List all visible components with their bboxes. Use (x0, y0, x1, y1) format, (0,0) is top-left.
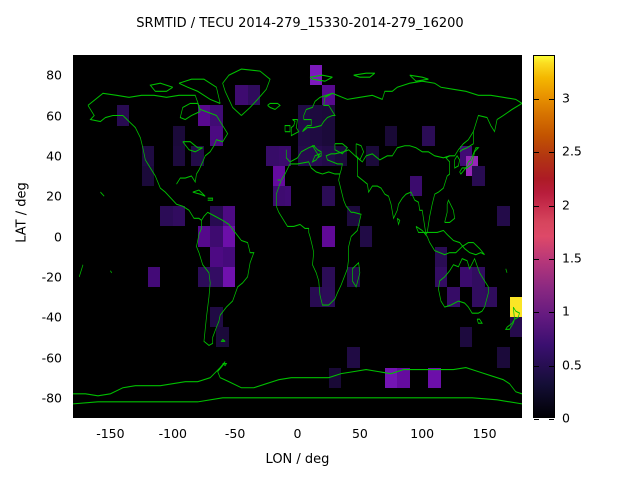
x-tick-label: -100 (159, 426, 187, 441)
x-tick-label: -50 (225, 426, 245, 441)
y-tick-mark (73, 358, 78, 359)
x-tick-label: 150 (473, 426, 497, 441)
coastline-path (221, 339, 225, 341)
colorbar-tick-mark (549, 259, 554, 260)
x-tick-label: 50 (352, 426, 368, 441)
coastline-path (506, 269, 507, 273)
coastline-path (100, 192, 104, 196)
colorbar-tick-label: 0 (562, 411, 570, 426)
coastline-path (506, 307, 520, 329)
y-tick-label: -60 (0, 350, 62, 365)
y-tick-mark (73, 237, 78, 238)
coastline-path (354, 73, 375, 77)
x-tick-mark (485, 413, 486, 418)
colorbar-tick-label: 2 (562, 197, 570, 212)
colorbar-tick-mark (549, 206, 554, 207)
chart-title: SRMTID / TECU 2014-279_15330-2014-279_16… (0, 16, 600, 31)
y-tick-label: -40 (0, 310, 62, 325)
coastline-path (276, 164, 290, 206)
x-tick-mark (235, 413, 236, 418)
coastline-path (88, 105, 201, 220)
coastline-path (356, 144, 363, 160)
colorbar-tick-mark (534, 99, 539, 100)
colorbar[interactable] (533, 55, 555, 418)
y-tick-mark (73, 317, 78, 318)
coastline-path (352, 263, 359, 287)
coastline-path (196, 212, 253, 345)
coastline-path (438, 259, 488, 313)
y-tick-label: 40 (0, 148, 62, 163)
coastline-path (397, 218, 399, 224)
coastline-path (445, 200, 455, 222)
coastline-path (223, 69, 270, 115)
coastline-path (276, 174, 361, 305)
coastline-path (410, 75, 429, 81)
x-tick-label: 100 (410, 426, 434, 441)
x-tick-label: -150 (96, 426, 124, 441)
chart-figure: SRMTID / TECU 2014-279_15330-2014-279_16… (0, 0, 640, 480)
y-tick-label: -20 (0, 269, 62, 284)
coastline-path (473, 103, 522, 131)
y-tick-mark (73, 116, 78, 117)
colorbar-tick-label: 2.5 (562, 144, 582, 159)
y-axis-label: LAT / deg (15, 158, 30, 268)
coastline-layer (73, 55, 522, 418)
coastline-path (88, 93, 228, 184)
coastline-path (79, 265, 83, 277)
coastline-path (285, 126, 290, 132)
colorbar-tick-mark (549, 99, 554, 100)
y-tick-mark (73, 398, 78, 399)
x-tick-label: 0 (294, 426, 302, 441)
colorbar-tick-mark (534, 259, 539, 260)
y-tick-mark (73, 156, 78, 157)
coastline-path (183, 142, 203, 152)
coastline-path (291, 120, 298, 136)
coastline-path (302, 93, 334, 131)
coastline-path (416, 226, 485, 254)
coastline-path (73, 362, 522, 396)
coastline-path (268, 103, 280, 109)
coastline-path (357, 156, 449, 235)
colorbar-tick-label: 1 (562, 304, 570, 319)
colorbar-tick-mark (534, 152, 539, 153)
colorbar-tick-mark (534, 419, 539, 420)
colorbar-tick-mark (549, 152, 554, 153)
coastline-path (310, 75, 332, 81)
colorbar-tick-label: 0.5 (562, 357, 582, 372)
colorbar-tick-mark (549, 312, 554, 313)
coastline-path (180, 103, 200, 119)
colorbar-tick-mark (549, 366, 554, 367)
y-tick-mark (73, 196, 78, 197)
coastline-path (110, 271, 111, 273)
y-tick-label: 20 (0, 189, 62, 204)
y-tick-label: 80 (0, 68, 62, 83)
y-tick-mark (73, 277, 78, 278)
x-tick-mark (173, 413, 174, 418)
colorbar-tick-mark (534, 206, 539, 207)
y-tick-label: 0 (0, 229, 62, 244)
colorbar-tick-mark (534, 312, 539, 313)
coastline-path (332, 81, 522, 103)
y-tick-label: -80 (0, 390, 62, 405)
coastline-path (208, 198, 213, 200)
colorbar-tick-mark (549, 419, 554, 420)
colorbar-tick-label: 3 (562, 90, 570, 105)
coastline-path (150, 83, 172, 91)
x-tick-mark (110, 413, 111, 418)
colorbar-tick-mark (534, 366, 539, 367)
y-tick-label: 60 (0, 108, 62, 123)
colorbar-tick-label: 1.5 (562, 250, 582, 265)
map-plot-area[interactable] (73, 55, 522, 418)
x-tick-mark (298, 413, 299, 418)
coastline-path (179, 79, 220, 103)
coastline-path (73, 398, 522, 404)
y-tick-mark (73, 75, 78, 76)
coastline-path (477, 319, 482, 323)
x-axis-label: LON / deg (73, 452, 522, 467)
x-tick-mark (422, 413, 423, 418)
x-tick-mark (360, 413, 361, 418)
coastline-path (460, 148, 479, 174)
coastline-path (455, 156, 460, 168)
coastline-path (193, 190, 205, 196)
coastline-path (286, 146, 321, 162)
